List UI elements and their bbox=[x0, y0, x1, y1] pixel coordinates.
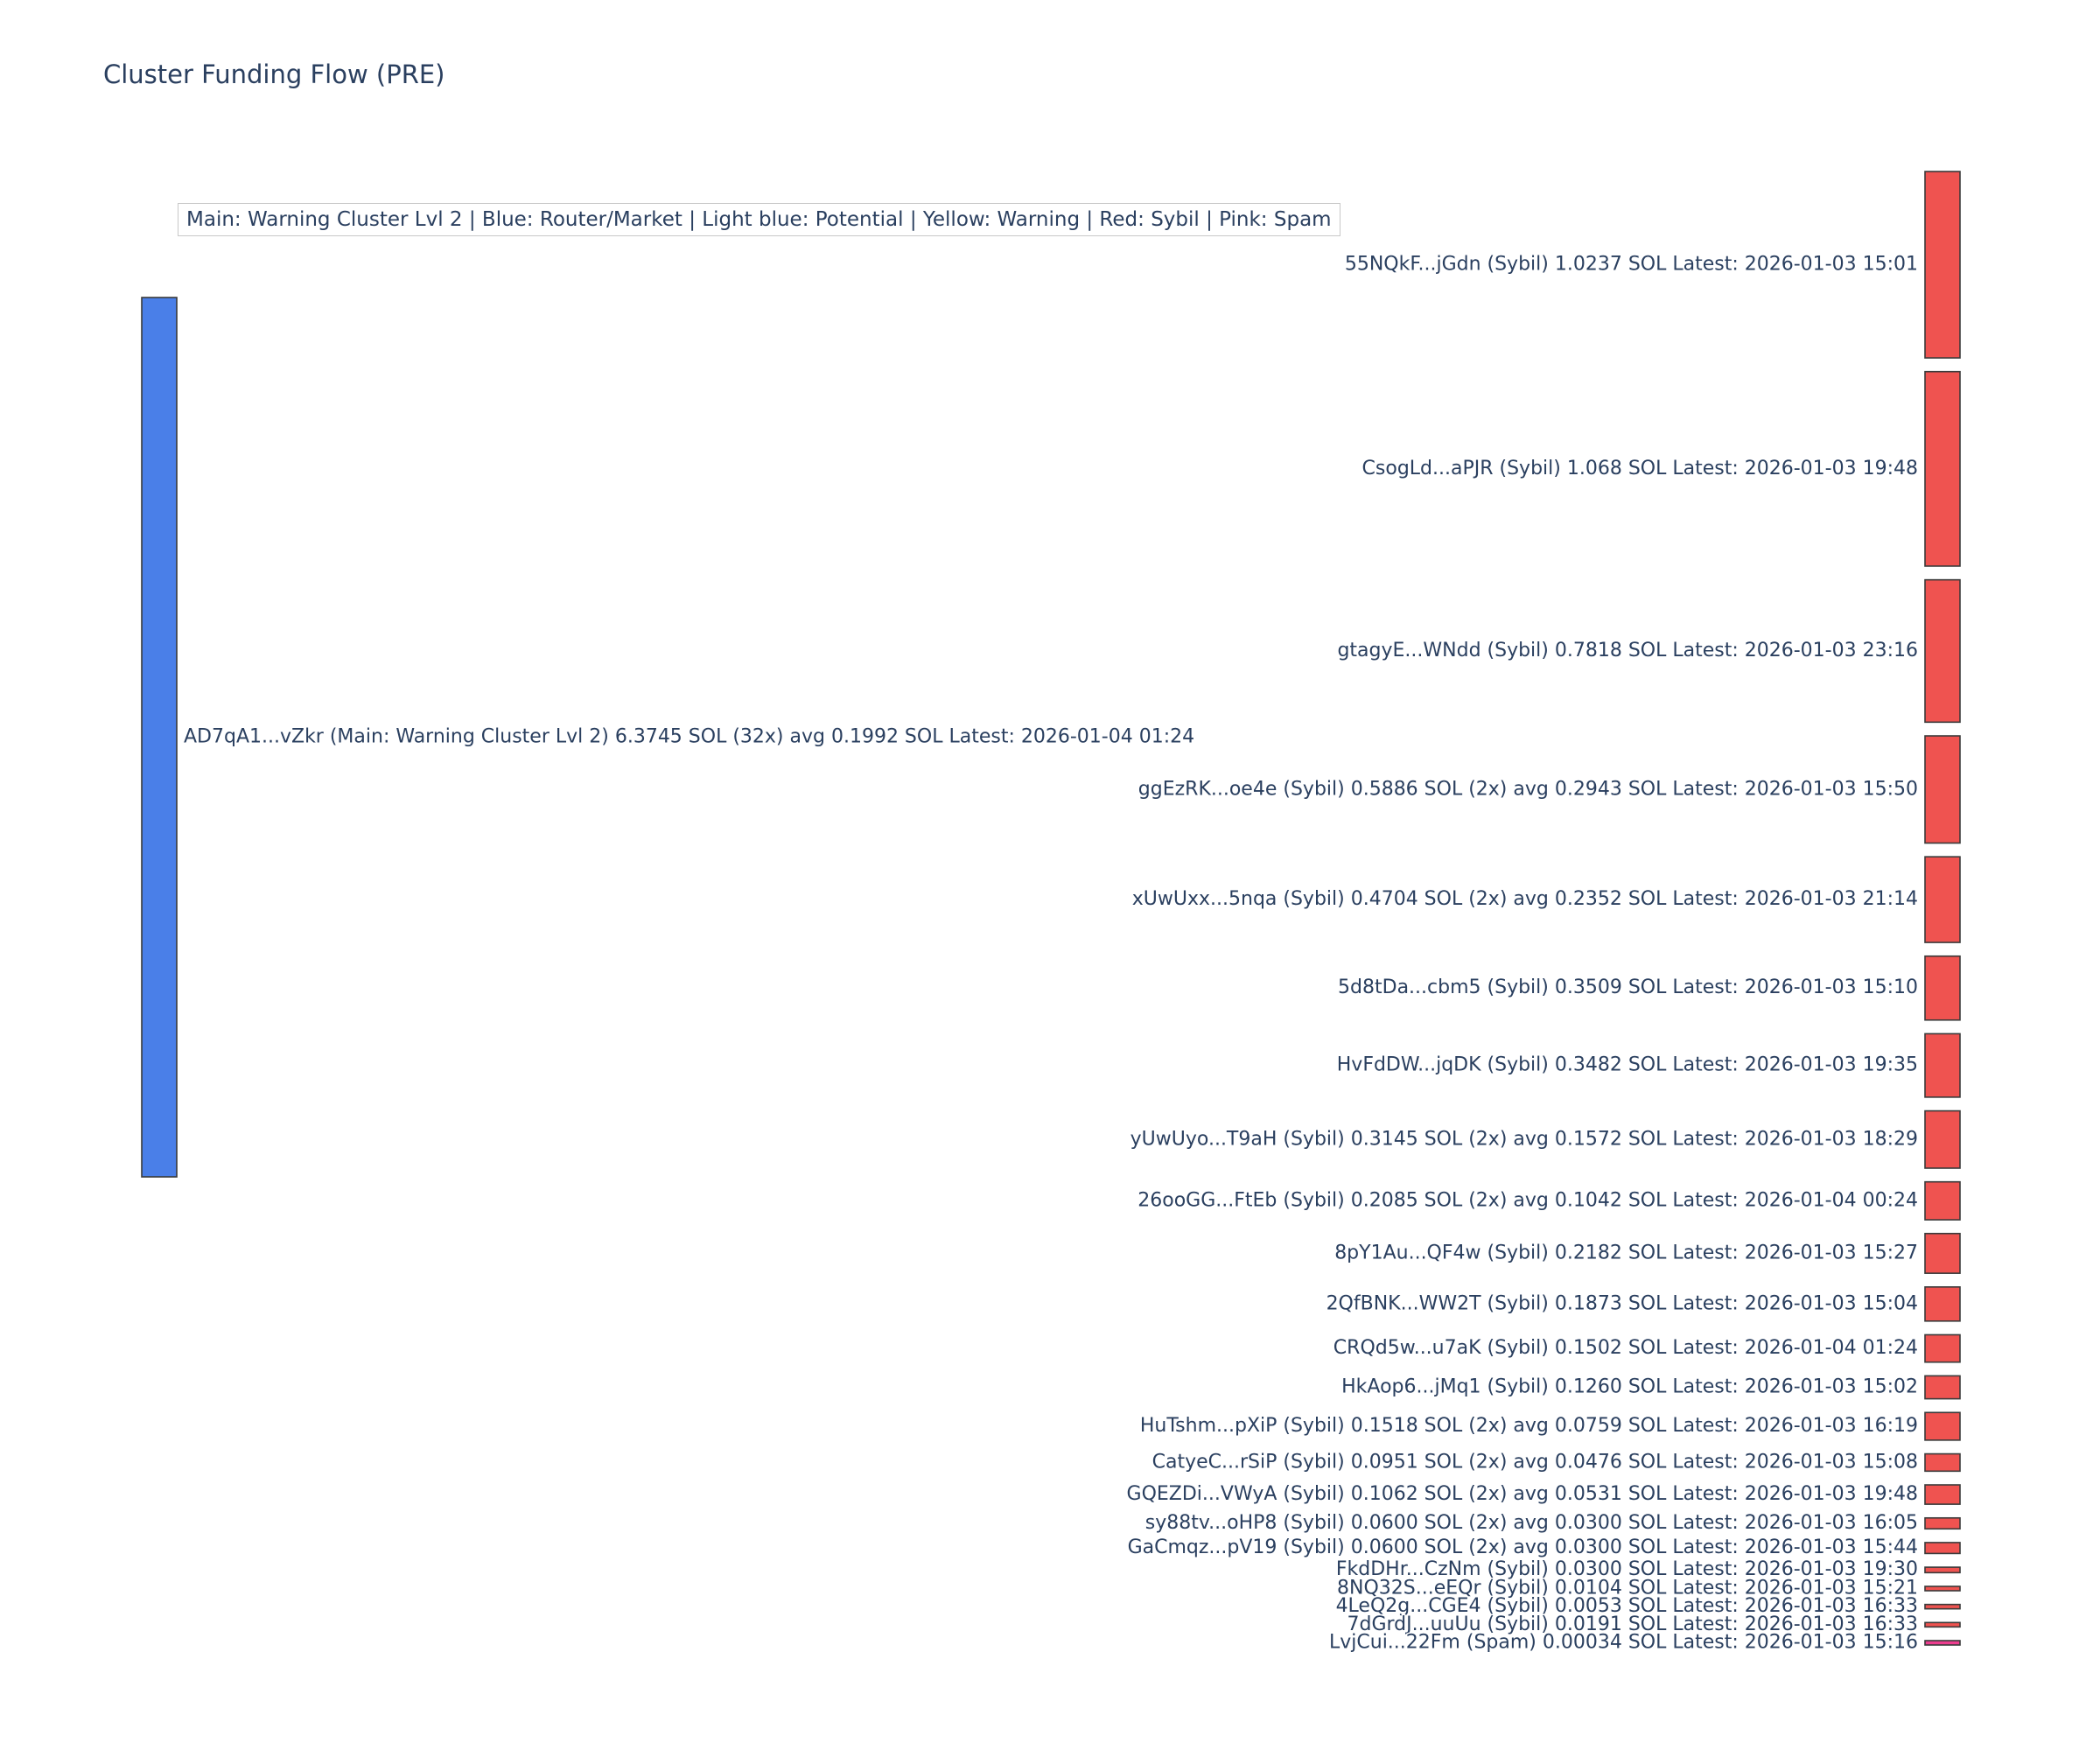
sankey-target-node-label: HkAop6...jMq1 (Sybil) 0.1260 SOL Latest:… bbox=[1341, 1376, 1918, 1398]
sankey-target-node[interactable] bbox=[1925, 1111, 1960, 1168]
sankey-chart-canvas: Cluster Funding Flow (PRE) AD7qA1...vZkr… bbox=[0, 0, 2100, 1750]
sankey-target-node-label: GQEZDi...VWyA (Sybil) 0.1062 SOL (2x) av… bbox=[1127, 1483, 1918, 1505]
sankey-target-node-label: 2QfBNK...WW2T (Sybil) 0.1873 SOL Latest:… bbox=[1326, 1292, 1918, 1314]
sankey-link[interactable] bbox=[177, 694, 1925, 843]
sankey-target-node[interactable] bbox=[1925, 1485, 1960, 1504]
sankey-target-node[interactable] bbox=[1925, 1454, 1960, 1472]
sankey-target-node[interactable] bbox=[1925, 1641, 1960, 1645]
sankey-target-node-label: 26ooGG...FtEb (Sybil) 0.2085 SOL (2x) av… bbox=[1137, 1189, 1918, 1211]
sankey-target-node-label: HuTshm...pXiP (Sybil) 0.1518 SOL (2x) av… bbox=[1140, 1415, 1918, 1437]
sankey-diagram: AD7qA1...vZkr (Main: Warning Cluster Lvl… bbox=[0, 0, 2100, 1750]
sankey-target-node[interactable] bbox=[1925, 171, 1960, 358]
sankey-target-node-label: LvjCui...22Fm (Spam) 0.00034 SOL Latest:… bbox=[1329, 1632, 1918, 1654]
sankey-target-node-label: 55NQkF...jGdn (Sybil) 1.0237 SOL Latest:… bbox=[1345, 254, 1918, 276]
sankey-link[interactable] bbox=[177, 775, 1925, 942]
sankey-target-node[interactable] bbox=[1925, 1567, 1960, 1572]
sankey-target-node[interactable] bbox=[1925, 1412, 1960, 1440]
sankey-source-node-label: AD7qA1...vZkr (Main: Warning Cluster Lvl… bbox=[184, 726, 1194, 748]
sankey-target-node-label: CsogLd...aPJR (Sybil) 1.068 SOL Latest: … bbox=[1362, 458, 1918, 479]
sankey-target-node-label: 5d8tDa...cbm5 (Sybil) 0.3509 SOL Latest:… bbox=[1338, 976, 1918, 998]
sankey-target-node-label: CRQd5w...u7aK (Sybil) 0.1502 SOL Latest:… bbox=[1333, 1337, 1918, 1359]
sankey-target-node-label: HvFdDW...jqDK (Sybil) 0.3482 SOL Latest:… bbox=[1337, 1054, 1918, 1076]
sankey-target-node-label: xUwUxx...5nqa (Sybil) 0.4704 SOL (2x) av… bbox=[1132, 888, 1918, 910]
sankey-target-node-label: ggEzRK...oe4e (Sybil) 0.5886 SOL (2x) av… bbox=[1138, 778, 1918, 800]
sankey-target-node[interactable] bbox=[1925, 1334, 1960, 1361]
sankey-target-node-label: sy88tv...oHP8 (Sybil) 0.0600 SOL (2x) av… bbox=[1145, 1512, 1918, 1534]
sankey-target-node[interactable] bbox=[1925, 1182, 1960, 1220]
sankey-target-node-label: yUwUyo...T9aH (Sybil) 0.3145 SOL (2x) av… bbox=[1130, 1128, 1918, 1150]
sankey-target-node[interactable] bbox=[1925, 1375, 1960, 1398]
sankey-target-node[interactable] bbox=[1925, 956, 1960, 1020]
sankey-target-node[interactable] bbox=[1925, 1622, 1960, 1627]
sankey-target-node[interactable] bbox=[1925, 580, 1960, 723]
legend-annotation: Main: Warning Cluster Lvl 2 | Blue: Rout… bbox=[178, 203, 1340, 236]
sankey-target-node-label: gtagyE...WNdd (Sybil) 0.7818 SOL Latest:… bbox=[1337, 640, 1918, 661]
sankey-target-node[interactable] bbox=[1925, 1287, 1960, 1321]
sankey-target-node[interactable] bbox=[1925, 1605, 1960, 1609]
sankey-source-node[interactable] bbox=[142, 297, 177, 1177]
sankey-target-node[interactable] bbox=[1925, 736, 1960, 843]
sankey-target-node[interactable] bbox=[1925, 1234, 1960, 1273]
sankey-target-node-label: 8pY1Au...QF4w (Sybil) 0.2182 SOL Latest:… bbox=[1334, 1242, 1918, 1263]
sankey-target-node[interactable] bbox=[1925, 857, 1960, 942]
sankey-link[interactable] bbox=[177, 980, 1925, 1220]
sankey-target-node[interactable] bbox=[1925, 1518, 1960, 1529]
sankey-target-node-label: GaCmqz...pV19 (Sybil) 0.0600 SOL (2x) av… bbox=[1128, 1536, 1918, 1558]
sankey-link[interactable] bbox=[177, 1039, 1925, 1321]
sankey-target-node[interactable] bbox=[1925, 1543, 1960, 1553]
sankey-link[interactable] bbox=[177, 1065, 1925, 1362]
sankey-target-node[interactable] bbox=[1925, 1586, 1960, 1591]
sankey-target-node-label: CatyeC...rSiP (Sybil) 0.0951 SOL (2x) av… bbox=[1152, 1451, 1918, 1473]
sankey-target-node[interactable] bbox=[1925, 372, 1960, 566]
sankey-target-node[interactable] bbox=[1925, 1033, 1960, 1096]
labels-layer: AD7qA1...vZkr (Main: Warning Cluster Lvl… bbox=[184, 254, 1918, 1654]
